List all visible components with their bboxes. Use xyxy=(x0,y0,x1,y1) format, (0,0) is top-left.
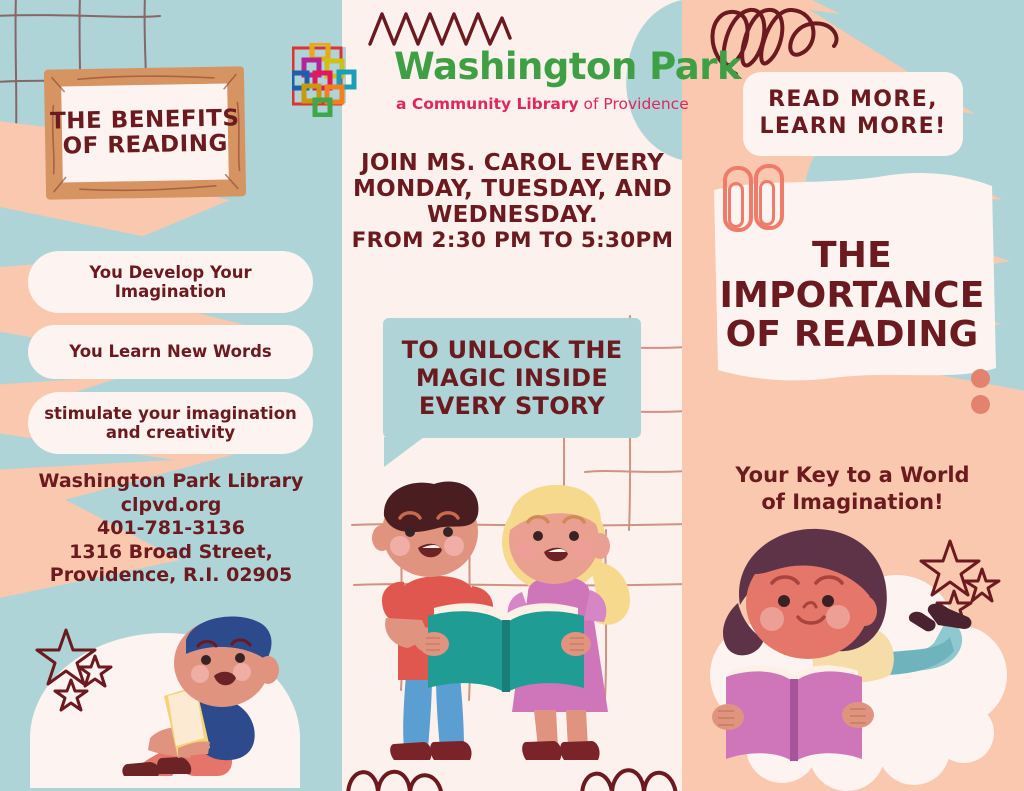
bubble-line-1: TO UNLOCK THE xyxy=(402,336,623,364)
library-address-line2: Providence, R.I. 02905 xyxy=(0,564,342,588)
schedule-line-1: JOIN MS. CAROL EVERY xyxy=(345,150,680,176)
badge-line-1: READ MORE, xyxy=(768,87,938,114)
illustration-boy-reading xyxy=(0,608,342,788)
schedule-line-2: MONDAY, TUESDAY, AND xyxy=(345,176,680,202)
center-column: JOIN MS. CAROL EVERY MONDAY, TUESDAY, AN… xyxy=(342,0,682,791)
logo-tagline-bold: a Community Library xyxy=(396,95,579,113)
zigzag-decoration xyxy=(368,4,518,48)
page-title: THE BENEFITS OF READING xyxy=(44,66,246,199)
badge-line-2: LEARN MORE! xyxy=(759,114,946,141)
logo-squares-icon xyxy=(292,43,358,117)
decorative-dot-1 xyxy=(971,369,990,388)
library-phone[interactable]: 401-781-3136 xyxy=(0,517,342,541)
page-title-line2: OF READING xyxy=(45,131,245,159)
paper-title-line-2: IMPORTANCE xyxy=(692,276,1012,316)
right-tagline: Your Key to a World of Imagination! xyxy=(690,462,1015,516)
read-more-badge: READ MORE, LEARN MORE! xyxy=(743,72,963,156)
schedule-block: JOIN MS. CAROL EVERY MONDAY, TUESDAY, AN… xyxy=(345,150,680,253)
squiggle-bottom-center xyxy=(342,744,682,791)
left-column: THE BENEFITS OF READING You Develop Your… xyxy=(0,0,342,791)
benefit-pill-0: You Develop Your Imagination xyxy=(28,251,313,313)
contact-block: Washington Park Library clpvd.org 401-78… xyxy=(0,470,342,588)
bubble-line-3: EVERY STORY xyxy=(419,392,605,420)
speech-bubble-text: TO UNLOCK THE MAGIC INSIDE EVERY STORY xyxy=(383,318,641,438)
paper-title: THE IMPORTANCE OF READING xyxy=(692,236,1012,355)
schedule-line-3: WEDNESDAY. xyxy=(345,202,680,228)
benefit-pill-1: You Learn New Words xyxy=(28,325,313,379)
speech-bubble-tail xyxy=(384,437,444,471)
library-name: Washington Park Library xyxy=(0,470,342,494)
paper-title-line-1: THE xyxy=(692,236,1012,276)
decorative-dot-2 xyxy=(971,395,990,414)
library-website[interactable]: clpvd.org xyxy=(0,494,342,518)
paper-title-line-3: OF READING xyxy=(692,315,1012,355)
library-logo-mark xyxy=(292,43,358,117)
right-tagline-line-2: of Imagination! xyxy=(690,489,1015,516)
schedule-line-4: FROM 2:30 PM TO 5:30PM xyxy=(345,229,680,254)
bubble-line-2: MAGIC INSIDE xyxy=(416,364,608,392)
logo-tagline-light: of Providence xyxy=(579,95,689,113)
illustration-girl-on-cloud-reading xyxy=(682,525,1024,791)
right-tagline-line-1: Your Key to a World xyxy=(690,462,1015,489)
logo-wordmark: Washington Park xyxy=(394,48,734,85)
benefit-pill-2: stimulate your imagination and creativit… xyxy=(28,392,313,454)
logo-tagline: a Community Library of Providence xyxy=(396,97,736,113)
paper-clip-icon-2-inner xyxy=(759,180,775,226)
right-column: READ MORE, LEARN MORE! THE IMPORTANCE OF… xyxy=(682,0,1024,791)
library-address-line1: 1316 Broad Street, xyxy=(0,541,342,565)
paper-clip-icon-1-inner xyxy=(728,182,744,228)
poster-canvas: THE BENEFITS OF READING You Develop Your… xyxy=(0,0,1024,791)
